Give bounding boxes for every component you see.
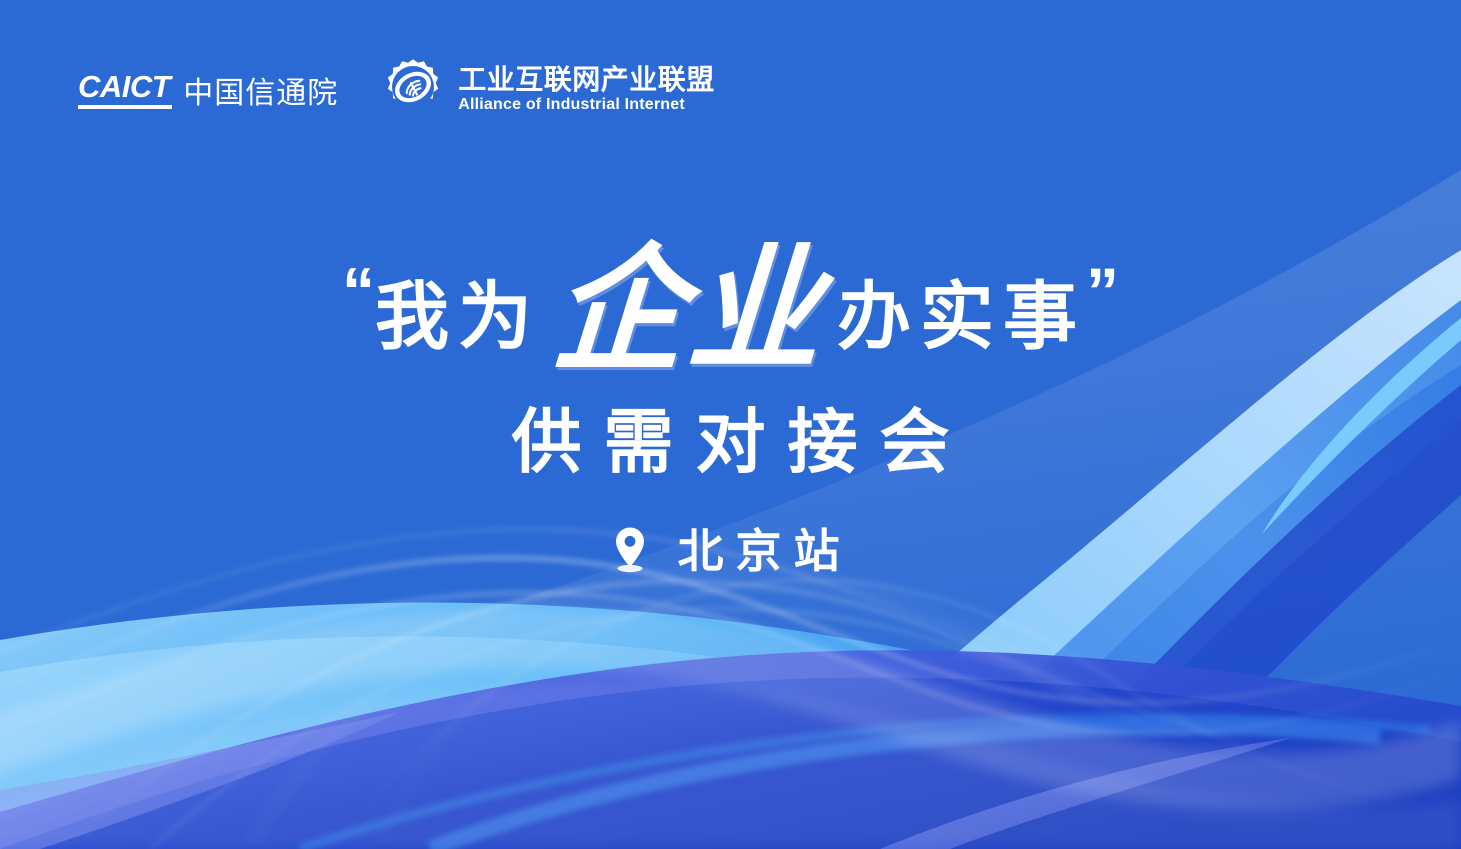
headline-part-2: 办实事: [837, 280, 1086, 354]
map-pin-icon: [610, 524, 650, 579]
page-subtitle: 供需对接会: [0, 404, 1461, 481]
event-poster: CAICT 中国信通院: [0, 0, 1461, 849]
location-line: 北京站: [0, 524, 1461, 579]
caict-wordmark: CAICT: [78, 71, 170, 109]
page-title: “ 我为 企业 办实事 ”: [0, 248, 1461, 378]
logo-bar: CAICT 中国信通院: [78, 56, 715, 123]
aii-name-cn: 工业互联网产业联盟: [458, 65, 715, 94]
caict-underline-rule: [78, 105, 172, 109]
aii-name-en: Alliance of Industrial Internet: [458, 97, 715, 114]
headline-brush-word: 企业: [548, 242, 830, 379]
logo-caict[interactable]: CAICT 中国信通院: [78, 68, 338, 112]
gear-wifi-icon: [382, 56, 444, 123]
headline-part-1: 我为: [375, 280, 541, 354]
quote-open: “: [342, 258, 375, 324]
caict-letters: CAICT: [78, 71, 170, 102]
logo-aii[interactable]: 工业互联网产业联盟 Alliance of Industrial Interne…: [382, 56, 715, 123]
location-label: 北京站: [666, 526, 852, 577]
caict-name-cn: 中国信通院: [183, 68, 338, 112]
aii-text: 工业互联网产业联盟 Alliance of Industrial Interne…: [458, 65, 715, 113]
quote-close: ”: [1086, 258, 1119, 324]
